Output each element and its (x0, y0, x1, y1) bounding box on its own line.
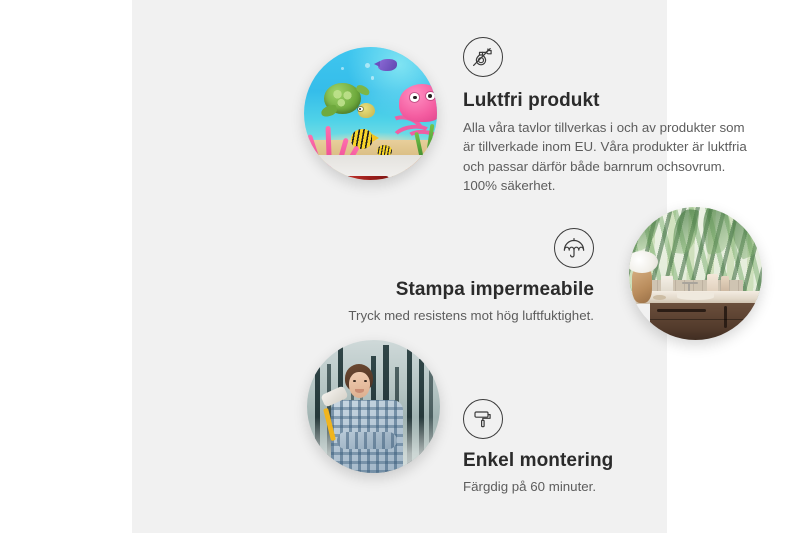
leaf-motif (672, 208, 699, 255)
person-illustration (326, 364, 408, 473)
room-foreground (304, 155, 437, 180)
feature-block-easy-install: Enkel montering Färgdig på 60 minuter. (463, 399, 713, 496)
octopus-head (399, 84, 437, 122)
leaf-motif (629, 210, 661, 254)
photo-installer-forest (307, 340, 440, 473)
wooden-floor (392, 176, 427, 179)
product-feature-banner: Luktfri produkt Alla våra tavlor tillver… (0, 0, 800, 533)
octopus-eye (410, 93, 419, 101)
feature-title: Luktfri produkt (463, 89, 755, 113)
purple-fish-icon (378, 59, 397, 71)
octopus-eye (426, 92, 435, 100)
bubble-icon (341, 67, 344, 70)
sink-basin (677, 293, 714, 300)
photo-underwater-mural (304, 47, 437, 180)
face (349, 372, 370, 398)
content-panel: Luktfri produkt Alla våra tavlor tillver… (132, 0, 667, 533)
ceramic-vase (632, 268, 652, 303)
feature-description: Tryck med resistens mot hög luftfuktighe… (300, 306, 594, 326)
drawer-divider (650, 319, 762, 320)
turtle-fin (320, 104, 338, 117)
no-odour-spray-bottle-icon (463, 37, 503, 77)
eye (364, 380, 367, 382)
turtle-illustration (320, 83, 373, 127)
umbrella-icon (554, 228, 594, 268)
feature-description: Alla våra tavlor tillverkas i och av pro… (463, 118, 755, 196)
leaf-motif (699, 207, 734, 255)
feature-title: Enkel montering (463, 449, 713, 473)
photo-bathroom-wallpaper (629, 207, 762, 340)
feature-title: Stampa impermeabile (300, 278, 594, 302)
red-sofa (344, 176, 389, 180)
feature-block-odourless: Luktfri produkt Alla våra tavlor tillver… (463, 37, 755, 196)
leaf-motif (726, 212, 762, 261)
wooden-vanity-cabinet (650, 303, 762, 340)
feature-description: Färgdig på 60 minuter. (463, 477, 713, 497)
paint-roller-icon (463, 399, 503, 439)
turtle-eye (358, 107, 363, 111)
bubble-icon (371, 76, 374, 79)
folded-arms (337, 432, 396, 449)
feature-block-waterproof: Stampa impermeabile Tryck med resistens … (300, 228, 594, 325)
